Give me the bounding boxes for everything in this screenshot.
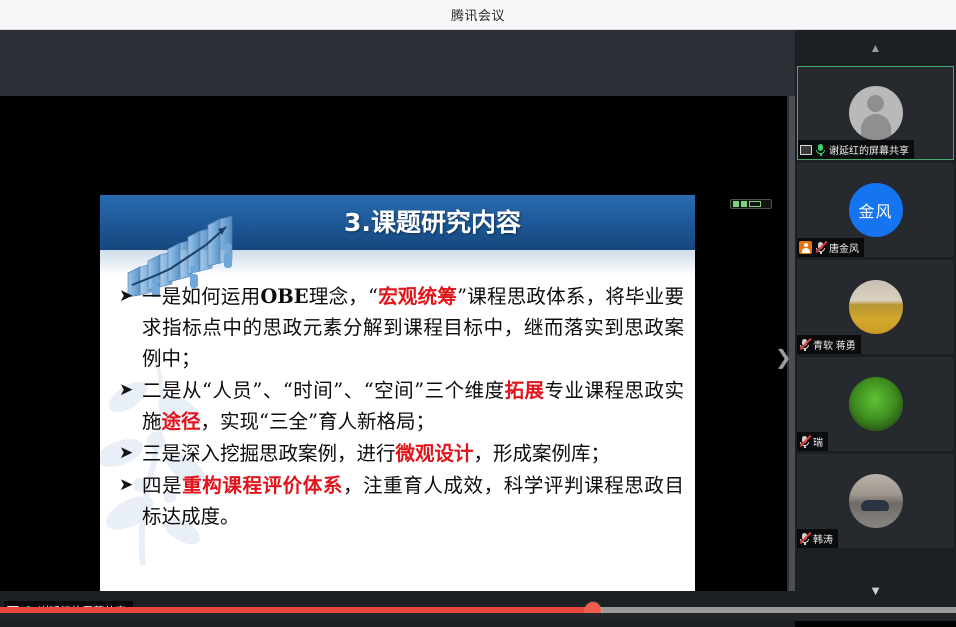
slide-bullet-4: ➤四是重构课程评价体系，注重育人成效，科学评判课程思政目标达成度。 — [118, 470, 684, 532]
bullet-1-seg-2: 理念，“ — [309, 285, 378, 308]
footer-strip — [0, 613, 956, 621]
avatar-initials: 金风 — [858, 198, 892, 222]
bullet-1-seg-3: 宏观统筹 — [378, 285, 457, 308]
participant-namebar: 瑞 — [797, 432, 828, 451]
microphone-on-icon — [815, 143, 826, 156]
shared-screen-stage[interactable]: 3.课题研究内容 ➤一是如何运用OBE理念， — [0, 30, 795, 591]
window-titlebar: 腾讯会议 — [0, 0, 956, 30]
participant-namebar: 唐金风 — [797, 238, 864, 257]
screen-share-icon — [800, 145, 812, 155]
shared-desktop-surface[interactable]: 3.课题研究内容 ➤一是如何运用OBE理念， — [0, 96, 787, 591]
avatar — [849, 86, 903, 140]
bullet-marker-icon: ➤ — [119, 281, 133, 312]
avatar — [849, 377, 903, 431]
participant-name: 韩涛 — [813, 531, 833, 546]
bullet-3-seg-2: ，形成案例库； — [474, 442, 611, 465]
avatar — [849, 280, 903, 334]
bullet-2-seg-1: 拓展 — [505, 379, 545, 402]
bullet-3-seg-1: 微观设计 — [396, 442, 474, 465]
bullet-2-seg-0: 二是从“人员”、“时间”、“空间”三个维度 — [142, 379, 505, 402]
bullet-1-seg-0: 一是如何运用 — [142, 285, 260, 308]
host-badge-icon — [799, 241, 812, 254]
bullet-1-seg-1: OBE — [260, 285, 308, 308]
participant-tile-0[interactable]: 谢延红的屏幕共享 — [797, 66, 954, 160]
avatar: 金风 — [849, 183, 903, 237]
bullet-marker-icon: ➤ — [119, 438, 133, 469]
bullet-4-seg-0: 四是 — [142, 474, 182, 497]
bullet-2-seg-3: 途径 — [162, 410, 201, 433]
next-slide-chevron-icon[interactable]: ❯ — [775, 345, 789, 369]
participant-tile-2[interactable]: 青软 蒋勇 — [797, 260, 954, 354]
bullet-marker-icon: ➤ — [119, 470, 133, 501]
slide-title: 3.课题研究内容 — [100, 203, 695, 239]
bullet-3-seg-0: 三是深入挖掘思政案例，进行 — [142, 442, 396, 465]
participant-name: 唐金风 — [829, 240, 859, 255]
bullet-4-seg-1: 重构课程评价体系 — [182, 474, 343, 497]
participant-namebar: 谢延红的屏幕共享 — [798, 140, 914, 159]
rail-scroll-up-button[interactable]: ▲ — [795, 30, 956, 66]
participant-name: 青软 蒋勇 — [813, 337, 856, 352]
participant-tile-4[interactable]: 韩涛 — [797, 454, 954, 548]
microphone-muted-icon — [799, 532, 810, 545]
bullet-marker-icon: ➤ — [119, 375, 133, 406]
slide-bullet-3: ➤三是深入挖掘思政案例，进行微观设计，形成案例库； — [118, 438, 684, 469]
bullet-2-seg-4: ，实现“三全”育人新格局； — [201, 410, 435, 433]
participant-name: 瑞 — [813, 434, 823, 449]
microphone-muted-icon — [799, 435, 810, 448]
microphone-muted-icon — [799, 338, 810, 351]
participant-tile-3[interactable]: 瑞 — [797, 357, 954, 451]
slide-bullet-2: ➤二是从“人员”、“时间”、“空间”三个维度拓展专业课程思政实施途径，实现“三全… — [118, 375, 684, 437]
ppt-presenter-toolbar-icon[interactable] — [730, 199, 772, 209]
microphone-muted-icon — [815, 241, 826, 254]
participant-tile-1[interactable]: 金风 唐金风 — [797, 163, 954, 257]
window-title: 腾讯会议 — [451, 5, 505, 24]
slide-bullet-list: ➤一是如何运用OBE理念，“宏观统筹”课程思政体系，将毕业要求指标点中的思政元素… — [118, 281, 684, 533]
participant-name: 谢延红的屏幕共享 — [829, 142, 909, 157]
rail-scroll-down-button[interactable]: ▼ — [795, 577, 956, 603]
participant-rail[interactable]: ▲ 谢延红的屏幕共享 金风 唐金风 — [795, 30, 956, 621]
powerpoint-slide: 3.课题研究内容 ➤一是如何运用OBE理念， — [100, 195, 695, 591]
participant-namebar: 韩涛 — [797, 529, 838, 548]
participant-namebar: 青软 蒋勇 — [797, 335, 861, 354]
meeting-window: 3.课题研究内容 ➤一是如何运用OBE理念， — [0, 30, 956, 621]
avatar — [849, 474, 903, 528]
slide-bullet-1: ➤一是如何运用OBE理念，“宏观统筹”课程思政体系，将毕业要求指标点中的思政元素… — [118, 281, 684, 374]
